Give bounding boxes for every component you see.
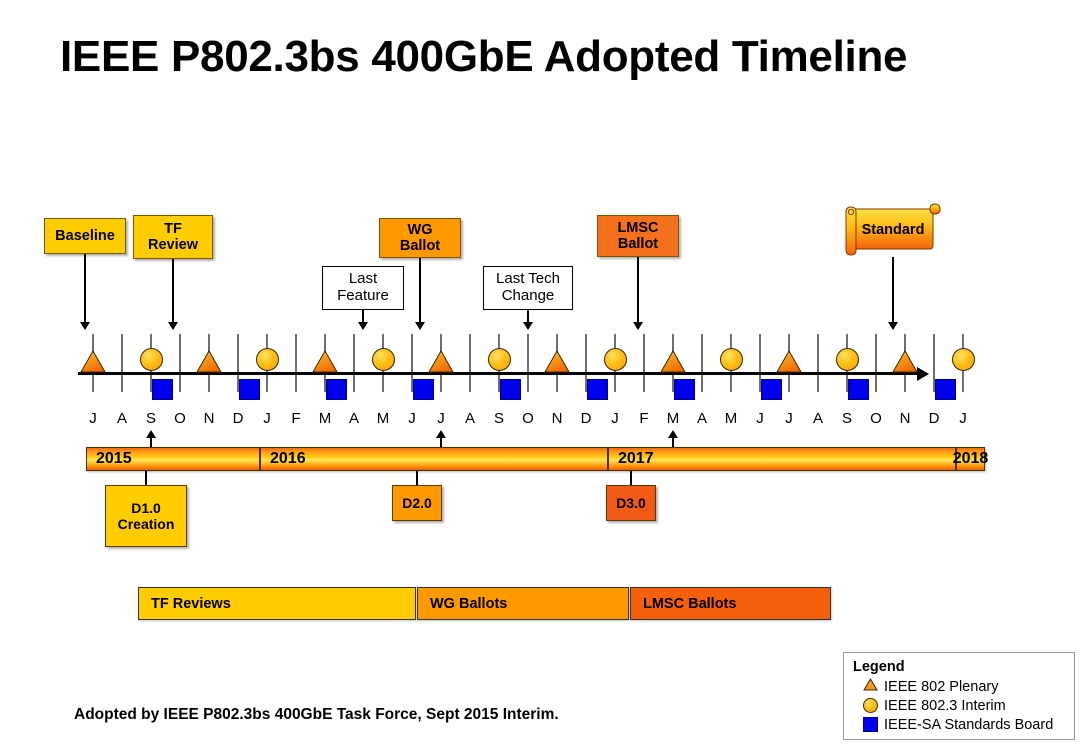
phase-bar-lmsc-ballots[interactable]: LMSC Ballots (630, 587, 831, 620)
legend-item-label: IEEE 802 Plenary (884, 679, 998, 695)
legend-swatch-triangle-icon (861, 678, 879, 695)
legend-item: IEEE-SA Standards Board (853, 715, 1066, 734)
legend-swatch-circle-icon (861, 698, 879, 713)
legend-items: IEEE 802 PlenaryIEEE 802.3 InterimIEEE-S… (853, 677, 1066, 734)
legend-title: Legend (853, 659, 1066, 675)
legend-item-label: IEEE-SA Standards Board (884, 717, 1053, 733)
legend-item-label: IEEE 802.3 Interim (884, 698, 1006, 714)
phase-bars-layer: TF ReviewsWG BallotsLMSC Ballots (0, 0, 1080, 744)
square-icon (863, 717, 878, 732)
circle-icon (863, 698, 878, 713)
legend-item: IEEE 802 Plenary (853, 677, 1066, 696)
triangle-icon (863, 678, 878, 695)
phase-bar-label: WG Ballots (430, 596, 507, 612)
legend-swatch-square-icon (861, 717, 879, 732)
phase-bar-tf-reviews[interactable]: TF Reviews (138, 587, 416, 620)
legend-item: IEEE 802.3 Interim (853, 696, 1066, 715)
phase-bar-wg-ballots[interactable]: WG Ballots (417, 587, 629, 620)
legend: Legend IEEE 802 PlenaryIEEE 802.3 Interi… (843, 652, 1075, 740)
footer-note: Adopted by IEEE P802.3bs 400GbE Task For… (74, 706, 559, 724)
slide-canvas: IEEE P802.3bs 400GbE Adopted Timeline Ba… (0, 0, 1080, 744)
phase-bar-label: TF Reviews (151, 596, 231, 612)
phase-bar-label: LMSC Ballots (643, 596, 736, 612)
